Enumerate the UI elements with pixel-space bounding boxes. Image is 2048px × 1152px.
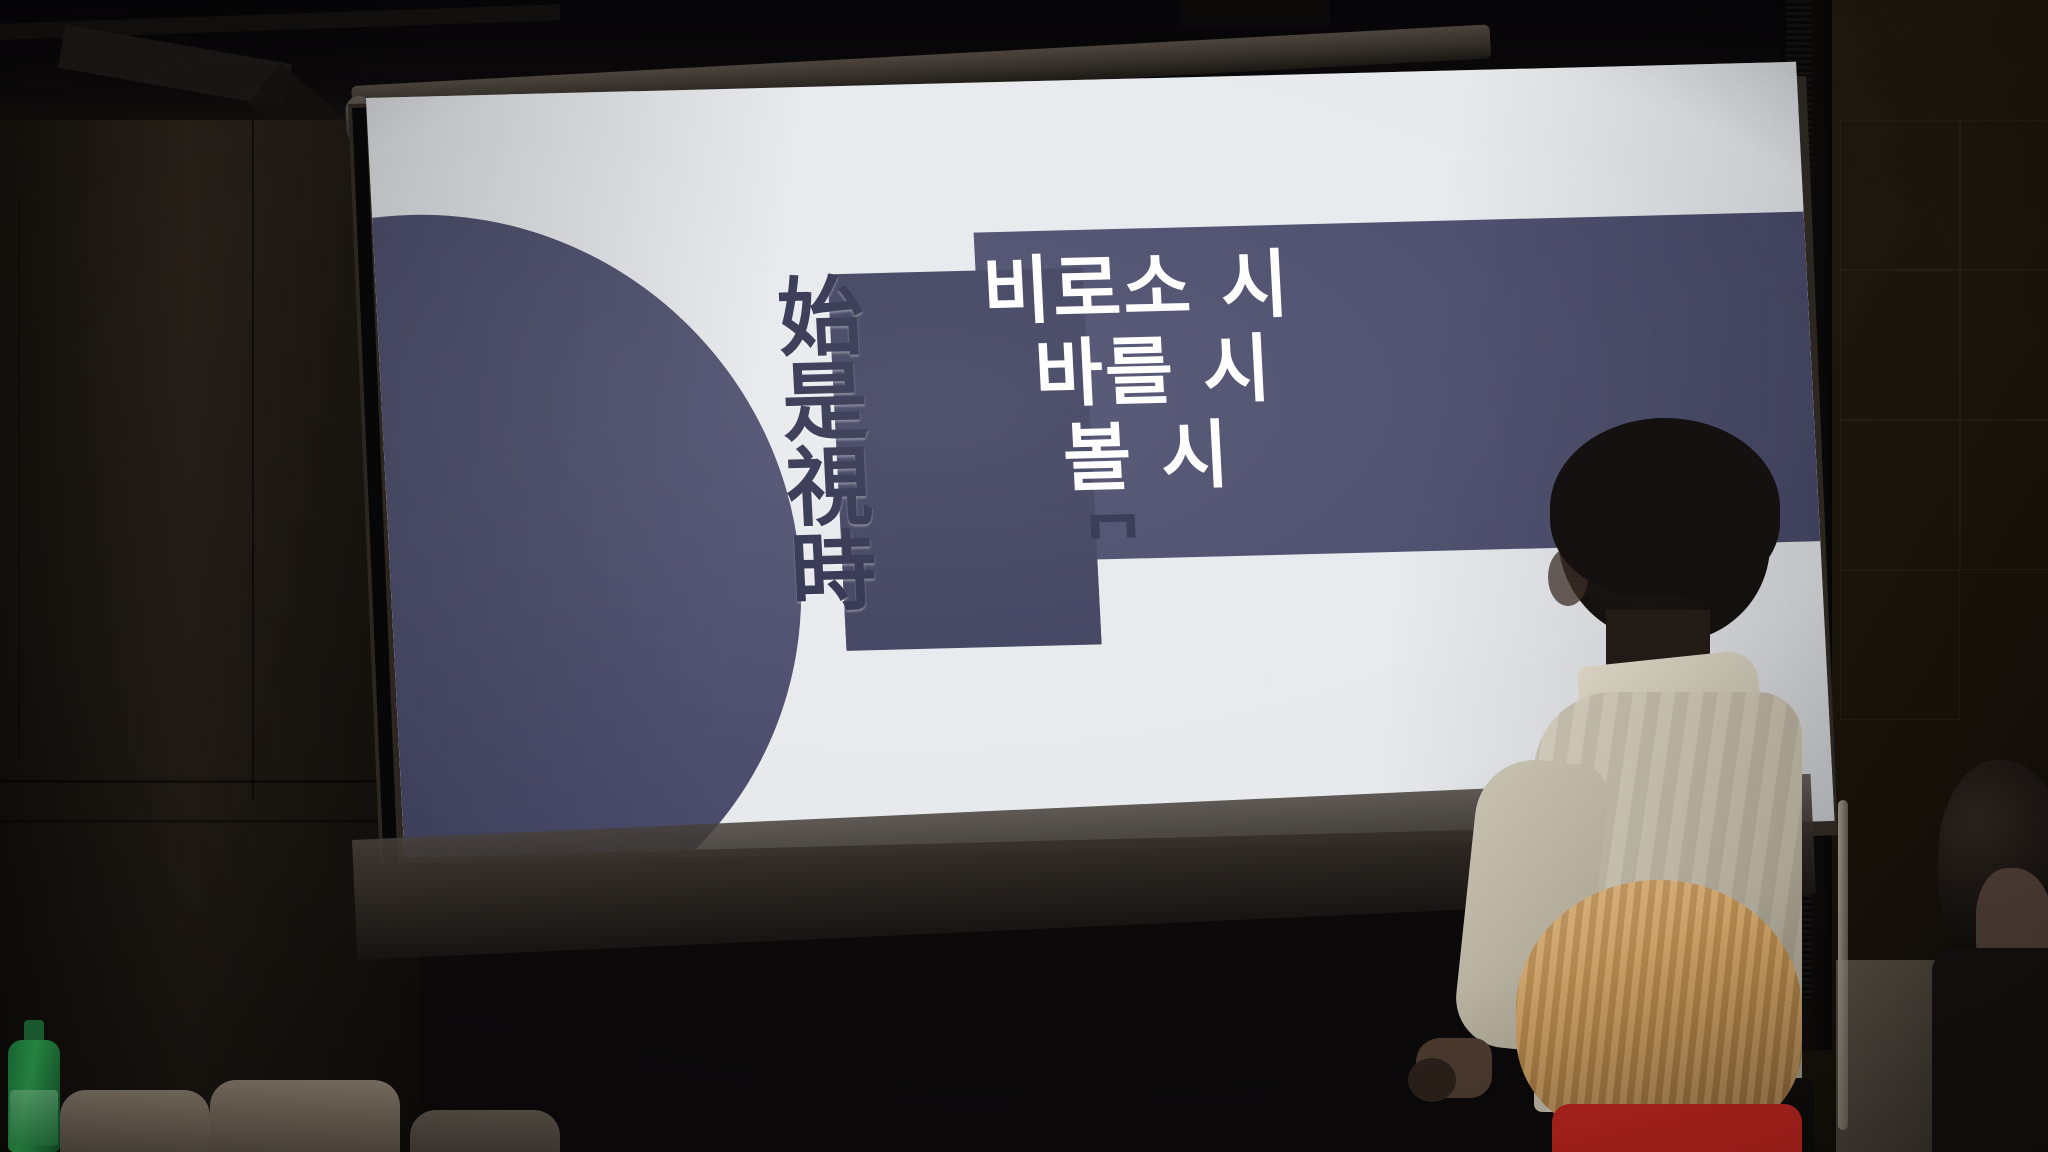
wall-tile [1960,270,2048,420]
wall-rail [0,820,420,823]
wall-tile [1960,120,2048,270]
presenter-clicker [1408,1058,1456,1102]
green-beverage-bottle [8,1020,60,1152]
hanja-char-2: 是 [780,360,870,447]
bottle-label [10,1090,58,1146]
wall-tile [1840,570,1960,720]
photo-canvas: C−today 始 是 視 時 비로소 시 바를 시 볼 시 ㅁ [0,0,2048,1152]
wall-tile [1960,420,2048,570]
wall-rail [0,780,420,783]
list-item [1938,760,2048,1152]
wall-tile [1840,270,1960,420]
chair-back [210,1080,400,1152]
blonde-audience-hair [1516,880,1802,1140]
hanja-char-4: 時 [789,531,879,618]
list-item [1516,880,1816,1152]
hanja-char-1: 始 [776,275,866,362]
brand-circle: C−today [366,205,819,857]
blonde-audience-top [1552,1104,1802,1152]
wall-tile [1840,420,1960,570]
presenter-hair [1550,418,1780,598]
chair-back [410,1110,560,1152]
ceiling-duct [1180,0,1330,26]
hanja-char-3: 視 [784,445,874,532]
hanja-vertical-column: 始 是 視 時 [766,275,889,618]
chair-back [60,1090,210,1152]
wall-seam [252,120,254,800]
wall-seam [18,200,20,760]
wall-tile [1840,120,1960,270]
right-audience-body [1932,948,2048,1152]
